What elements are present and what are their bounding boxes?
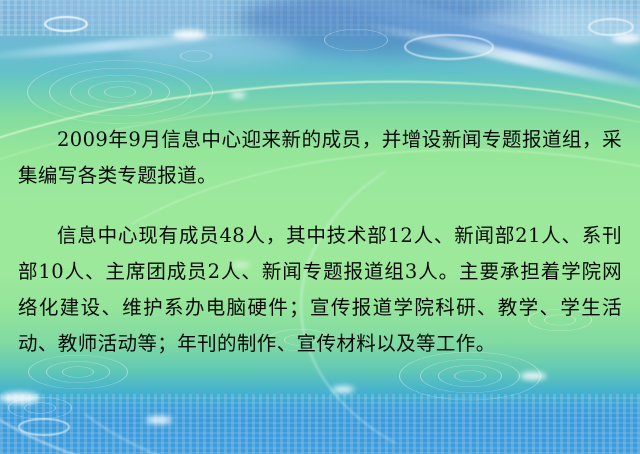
body-paragraph-1: 2009年9月信息中心迎来新的成员，并增设新闻专题报道组，采集编写各类专题报道。 — [18, 122, 622, 194]
slide-canvas: 2009年9月信息中心迎来新的成员，并增设新闻专题报道组，采集编写各类专题报道。… — [0, 0, 640, 454]
body-paragraph-2: 信息中心现有成员48人，其中技术部12人、新闻部21人、系刊部10人、主席团成员… — [18, 218, 622, 362]
slide-content: 2009年9月信息中心迎来新的成员，并增设新闻专题报道组，采集编写各类专题报道。… — [0, 0, 640, 454]
